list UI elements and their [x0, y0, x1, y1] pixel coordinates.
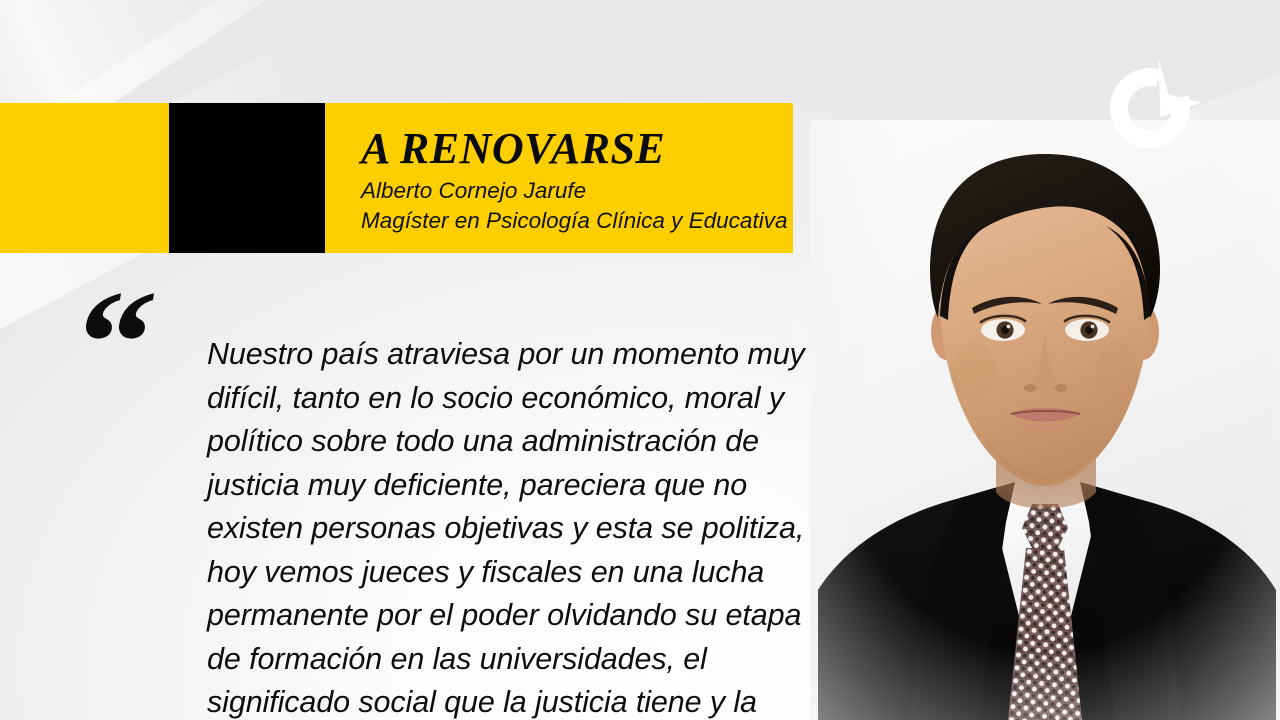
quote-text: Nuestro país atraviesa por un momento mu… — [207, 333, 807, 720]
author-credential: Magíster en Psicología Clínica y Educati… — [361, 206, 793, 236]
circular-arrow-logo-icon — [1096, 52, 1208, 156]
portrait-illustration — [810, 120, 1280, 720]
brand-logo[interactable] — [1096, 52, 1208, 156]
page-title: A RENOVARSE — [361, 126, 793, 172]
banner-yellow-left-block — [0, 103, 169, 253]
header-banner: A RENOVARSE Alberto Cornejo Jarufe Magís… — [0, 103, 793, 253]
quote-slide: A RENOVARSE Alberto Cornejo Jarufe Magís… — [0, 0, 1280, 720]
quote-text-content: Nuestro país atraviesa por un momento mu… — [207, 337, 805, 720]
banner-text-group: A RENOVARSE Alberto Cornejo Jarufe Magís… — [325, 103, 793, 253]
banner-black-block — [169, 103, 325, 253]
author-name: Alberto Cornejo Jarufe — [361, 176, 793, 206]
portrait-photo — [810, 120, 1280, 720]
